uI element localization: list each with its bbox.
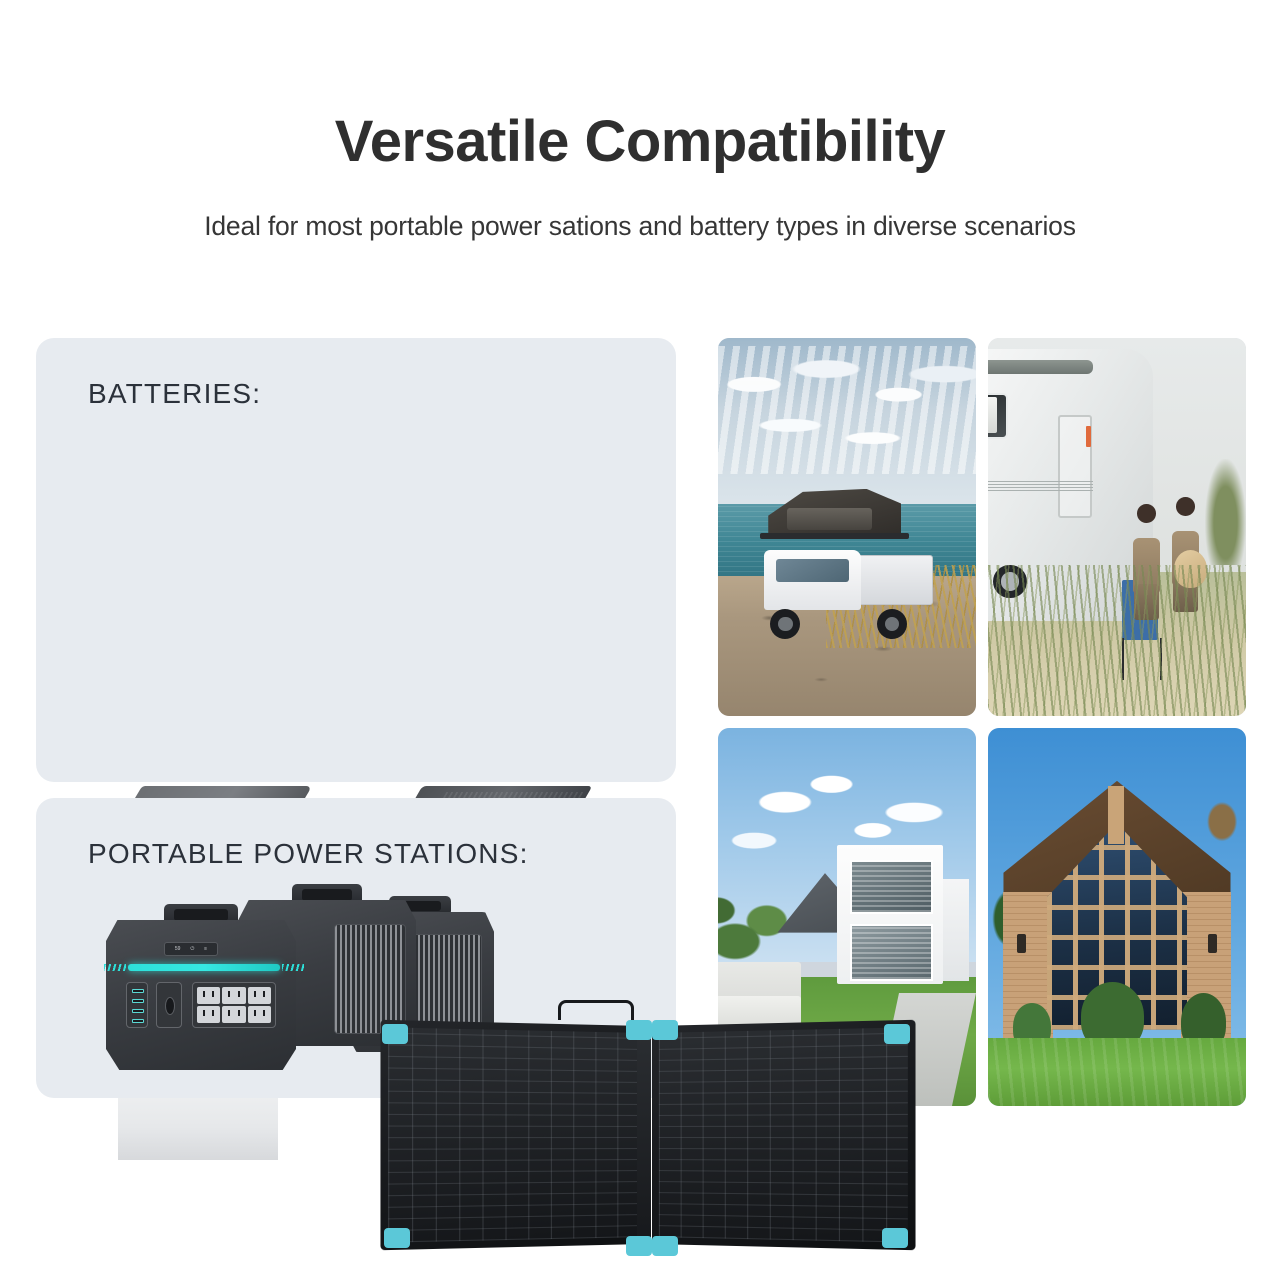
foldable-solar-panel-image [382, 1010, 912, 1260]
dc-output-port [156, 982, 182, 1028]
ac-outlet [222, 987, 245, 1004]
page-header: Versatile Compatibility Ideal for most p… [0, 0, 1280, 242]
solar-panel-wing-left [380, 1020, 644, 1250]
page-title: Versatile Compatibility [0, 112, 1280, 173]
photo-rv-campers [988, 338, 1246, 716]
corner-guard [652, 1236, 678, 1256]
corner-guard [384, 1228, 410, 1248]
power-stations-panel-label: PORTABLE POWER STATIONS: [88, 838, 529, 870]
ac-outlet [248, 987, 271, 1004]
ac-outlet [222, 1006, 245, 1023]
ac-outlet [197, 987, 220, 1004]
corner-guard [882, 1228, 908, 1248]
photo-a-frame-cabin [988, 728, 1246, 1106]
corner-guard [652, 1020, 678, 1040]
usb-port-group [126, 982, 148, 1028]
solar-panel-wing-right [652, 1020, 916, 1250]
cabin-graphic [1003, 781, 1230, 1046]
status-display: 59⏻≡ [164, 942, 218, 956]
solar-cells [388, 1027, 637, 1242]
solar-cells [659, 1027, 908, 1242]
versatile-compatibility-page: Versatile Compatibility Ideal for most p… [0, 0, 1280, 1280]
wall-lamp-icon [1017, 934, 1026, 953]
ac-outlet-group [192, 982, 276, 1028]
corner-guard [626, 1236, 652, 1256]
corner-guard [884, 1024, 910, 1044]
house-graphic [801, 841, 966, 1000]
solar-panel-handle [558, 1000, 634, 1020]
ac-outlet [248, 1006, 271, 1023]
corner-guard [382, 1024, 408, 1044]
ac-outlet [197, 1006, 220, 1023]
led-light-bar [128, 964, 280, 971]
solar-panel-hinge [637, 1028, 651, 1242]
photo-truck-rooftop-tent [718, 338, 976, 716]
page-subtitle: Ideal for most portable power sations an… [0, 211, 1280, 242]
corner-guard [626, 1020, 652, 1040]
truck-graphic [736, 527, 937, 633]
batteries-panel: BATTERIES: RENOGY SMART LITHIUM IRON PHO… [36, 338, 676, 782]
wall-lamp-icon [1208, 934, 1217, 953]
batteries-panel-label: BATTERIES: [88, 378, 261, 410]
power-station-front-image: 59⏻≡ [106, 920, 296, 1070]
